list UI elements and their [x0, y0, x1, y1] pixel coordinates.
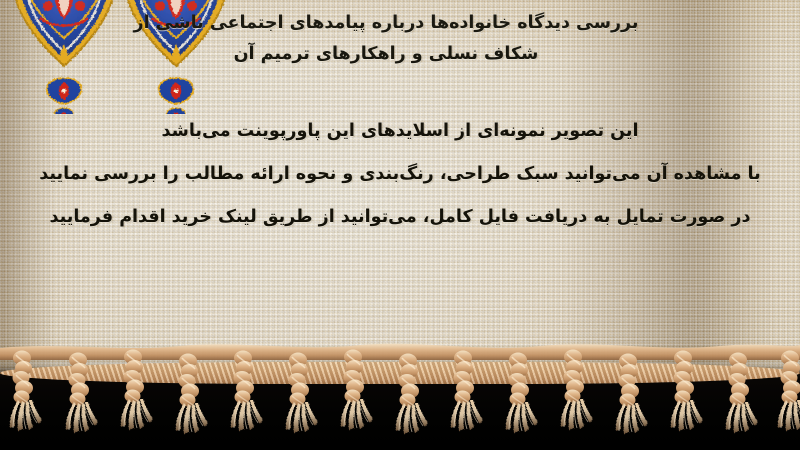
tassel-group — [10, 350, 800, 435]
slide-title: بررسی دیدگاه خانواده‌ها درباره پیامدهای … — [0, 8, 800, 70]
slide-canvas: بررسی دیدگاه خانواده‌ها درباره پیامدهای … — [0, 0, 800, 450]
body-line-2: با مشاهده آن می‌توانید سبک طراحی، رنگ‌بن… — [20, 153, 780, 196]
slide-body: این تصویر نمونه‌ای از اسلایدهای این پاور… — [0, 110, 800, 239]
body-line-3: در صورت تمایل به دریافت فایل کامل، می‌تو… — [20, 196, 780, 239]
body-line-1: این تصویر نمونه‌ای از اسلایدهای این پاور… — [20, 110, 780, 153]
title-line-1: بررسی دیدگاه خانواده‌ها درباره پیامدهای … — [18, 8, 754, 39]
fringe-svg — [0, 340, 800, 450]
carpet-fringe-tassels — [0, 340, 800, 450]
title-line-2: شکاف نسلی و راهکارهای ترمیم آن — [18, 39, 754, 70]
